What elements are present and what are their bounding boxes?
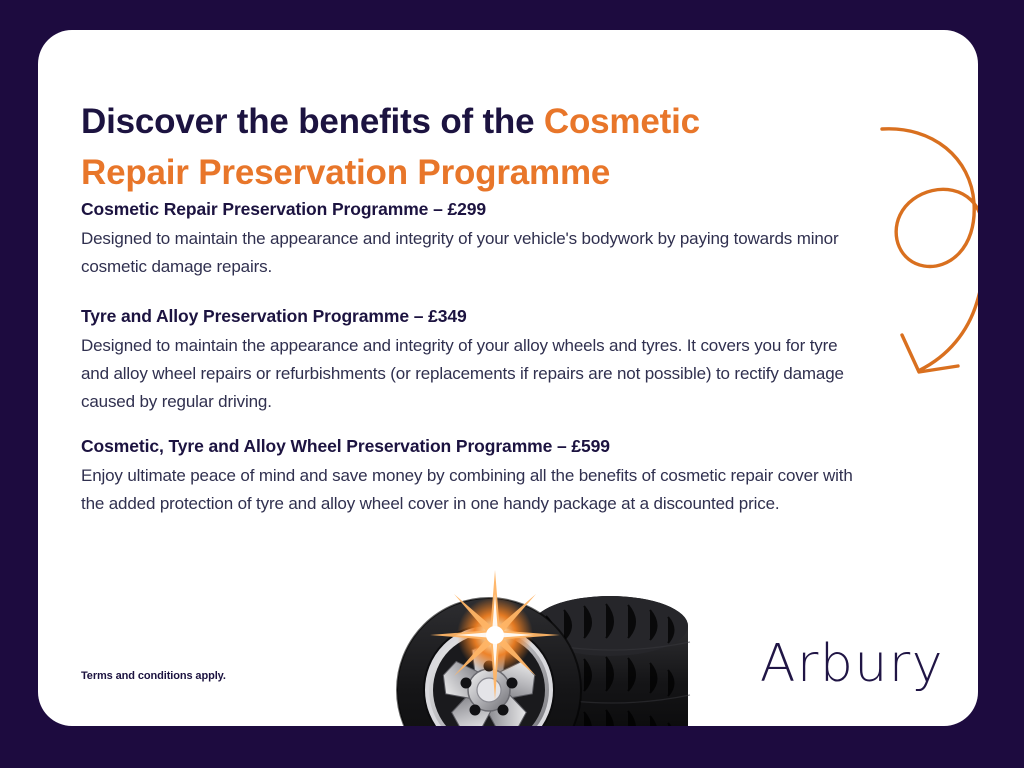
programme-description: Enjoy ultimate peace of mind and save mo… — [81, 462, 856, 518]
programme-title: Tyre and Alloy Preservation Programme – … — [81, 305, 856, 328]
headline-accent-cosmetic: Cosmetic — [544, 102, 700, 141]
headline-lead: Discover the benefits of the — [81, 102, 544, 141]
alloy-wheel — [397, 598, 581, 726]
programme-description: Designed to maintain the appearance and … — [81, 332, 856, 416]
terms-and-conditions: Terms and conditions apply. — [81, 670, 226, 682]
programme-block-combined: Cosmetic, Tyre and Alloy Wheel Preservat… — [81, 435, 856, 518]
programme-title: Cosmetic Repair Preservation Programme –… — [81, 198, 856, 221]
arbury-logo: Arbury — [760, 634, 944, 694]
headline-accent-programme: Repair Preservation Programme — [81, 153, 610, 192]
slide-canvas: Discover the benefits of the CosmeticRep… — [0, 0, 1024, 768]
programme-block-tyre-alloy: Tyre and Alloy Preservation Programme – … — [81, 305, 856, 416]
sparkle-icon — [430, 570, 560, 700]
tyre-stack-back — [532, 596, 690, 726]
page-title: Discover the benefits of the CosmeticRep… — [81, 96, 841, 198]
curly-arrow-icon — [838, 70, 978, 400]
programme-block-cosmetic-repair: Cosmetic Repair Preservation Programme –… — [81, 198, 856, 281]
tyre-stack-icon — [358, 550, 708, 726]
programme-description: Designed to maintain the appearance and … — [81, 225, 856, 281]
programme-title: Cosmetic, Tyre and Alloy Wheel Preservat… — [81, 435, 856, 458]
content-card: Discover the benefits of the CosmeticRep… — [38, 30, 978, 726]
